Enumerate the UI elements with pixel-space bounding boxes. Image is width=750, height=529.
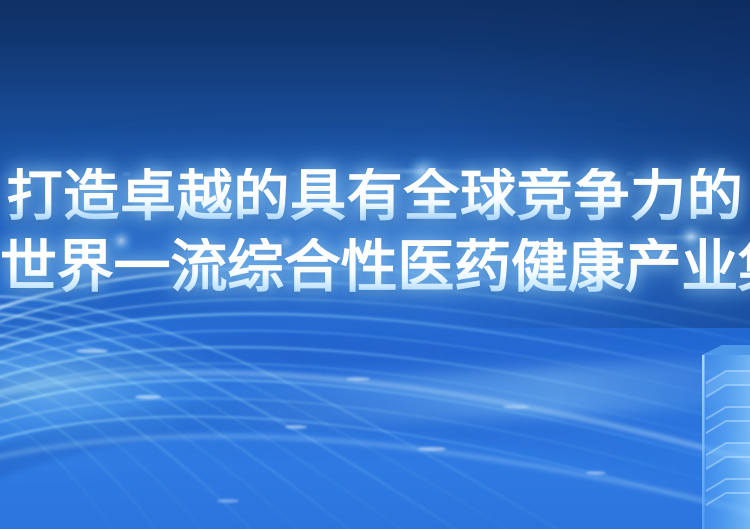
tower-svg — [686, 339, 750, 529]
skyscraper-silhouette — [686, 339, 750, 529]
headline-line-1: 打造卓越的具有全球竞争力的 — [0, 168, 750, 226]
banner-image: 打造卓越的具有全球竞争力的 世界一流综合性医药健康产业集团 打造卓越的具有全球竞… — [0, 0, 750, 529]
headline-line-2: 世界一流综合性医药健康产业集团 — [0, 238, 750, 297]
banner-headline: 打造卓越的具有全球竞争力的 世界一流综合性医药健康产业集团 — [0, 168, 750, 298]
